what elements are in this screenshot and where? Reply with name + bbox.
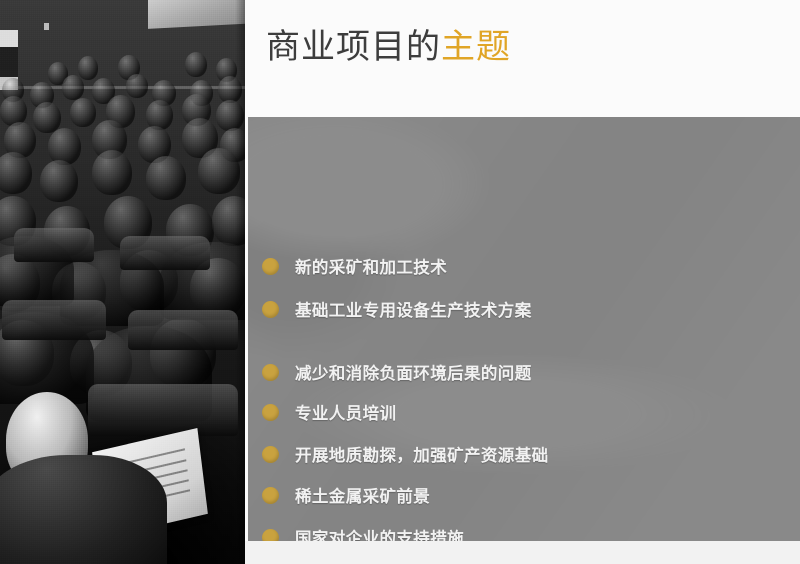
bullet-dot-icon xyxy=(262,529,279,542)
list-item[interactable]: 开展地质勘探，加强矿产资源基础 xyxy=(262,441,549,467)
bullet-dot-icon xyxy=(262,446,279,463)
list-item-label: 国家对企业的支持措施 xyxy=(295,525,464,541)
list-item-label: 稀土金属采矿前景 xyxy=(295,483,430,507)
bullet-dot-icon xyxy=(262,364,279,381)
photo-edge-shadow xyxy=(235,0,245,564)
title-bar: 商业项目的主题 xyxy=(245,0,800,117)
panel-ghost-image xyxy=(248,117,800,541)
bullet-dot-icon xyxy=(262,487,279,504)
presentation-slide: 商业项目的主题 新的采矿和加工技术 基础工业专用设备生产技术方案 减少和消除负面… xyxy=(0,0,800,564)
list-item[interactable]: 新的采矿和加工技术 xyxy=(262,253,447,279)
chair-back xyxy=(2,300,106,340)
bullet-dot-icon xyxy=(262,258,279,275)
page-title-lead: 商业项目的 xyxy=(266,27,441,67)
chair-back xyxy=(128,310,238,350)
chair-back xyxy=(88,384,238,436)
page-title: 商业项目的主题 xyxy=(245,30,511,64)
list-item[interactable]: 基础工业专用设备生产技术方案 xyxy=(262,296,532,322)
content-panel: 新的采矿和加工技术 基础工业专用设备生产技术方案 减少和消除负面环境后果的问题 … xyxy=(248,117,800,541)
list-item-label: 基础工业专用设备生产技术方案 xyxy=(295,297,532,321)
foreground-attendee-body xyxy=(0,455,167,564)
bullet-dot-icon xyxy=(262,301,279,318)
conference-audience-photo xyxy=(0,0,245,564)
bullet-dot-icon xyxy=(262,404,279,421)
list-item-label: 新的采矿和加工技术 xyxy=(295,254,447,278)
list-item-label: 减少和消除负面环境后果的问题 xyxy=(295,360,532,384)
list-item[interactable]: 稀土金属采矿前景 xyxy=(262,482,430,508)
page-title-accent: 主题 xyxy=(441,27,511,67)
list-item-label: 专业人员培训 xyxy=(295,400,396,424)
list-item[interactable]: 专业人员培训 xyxy=(262,399,396,425)
chair-back xyxy=(14,228,94,262)
footer-strip xyxy=(245,541,800,564)
list-item-label: 开展地质勘探，加强矿产资源基础 xyxy=(295,442,549,466)
list-item[interactable]: 减少和消除负面环境后果的问题 xyxy=(262,359,532,385)
list-item[interactable]: 国家对企业的支持措施 xyxy=(262,524,464,541)
chair-back xyxy=(120,236,210,270)
